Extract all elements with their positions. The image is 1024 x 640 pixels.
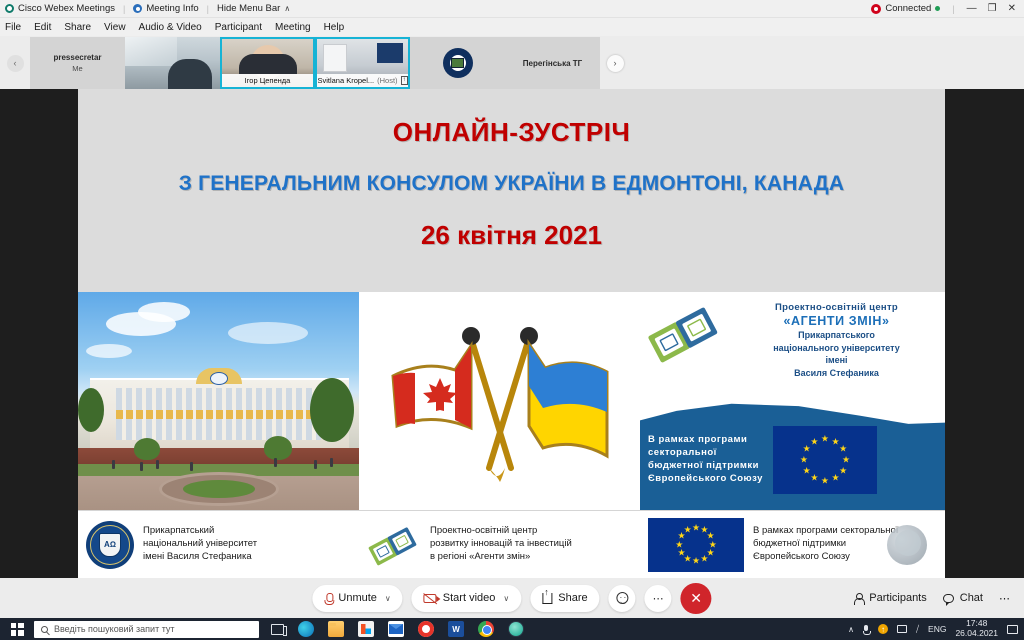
start-video-button[interactable]: Start video ∨: [412, 585, 521, 612]
unmute-button[interactable]: Unmute ∨: [312, 585, 402, 612]
windows-taskbar: Введіть пошуковий запит тут W ∧ ↑ ⧸ ENG …: [0, 618, 1024, 640]
chrome-icon[interactable]: [478, 621, 494, 637]
eu-star-icon: ★: [700, 554, 708, 563]
participants-label: Participants: [869, 592, 926, 604]
agents-of-changes-icon: [646, 300, 724, 366]
language-indicator[interactable]: ENG: [928, 624, 946, 634]
banner-university-line3: імені Василя Стефаника: [143, 551, 257, 564]
connection-status[interactable]: Connected: [871, 3, 940, 14]
slide-image-band: Проектно-освітній центр «АГЕНТИ ЗМІН» Пр…: [78, 292, 945, 510]
chevron-left-icon: ‹: [7, 55, 24, 72]
video-tile-ihor-tsependa[interactable]: Ігор Цепенда: [220, 37, 315, 89]
connection-quality-dot: [935, 6, 940, 11]
eu-flag-icon: ★★★★★★★★★★★★: [648, 518, 744, 572]
unmute-label: Unmute: [338, 592, 377, 604]
video-tile-sublabel: Me: [72, 64, 82, 73]
taskbar-search-input[interactable]: Введіть пошуковий запит тут: [34, 621, 259, 638]
volume-tray-icon[interactable]: ⧸: [916, 624, 919, 635]
banner-cell-agents: Проектно-освітній центр розвитку інновац…: [359, 511, 640, 578]
avatar: [443, 48, 473, 78]
menu-item-file[interactable]: File: [5, 22, 21, 33]
video-tile-name: Ігор Цепенда: [245, 76, 291, 85]
microphone-tray-icon[interactable]: [863, 625, 869, 634]
eu-support-block: В рамках програми секторальної бюджетної…: [648, 426, 937, 494]
participants-button[interactable]: Participants: [849, 585, 930, 612]
minimize-button[interactable]: —: [967, 3, 977, 14]
eu-star-icon: ★: [839, 445, 847, 454]
filmstrip-next[interactable]: ›: [600, 37, 630, 89]
menu-item-share[interactable]: Share: [64, 22, 91, 33]
menu-item-edit[interactable]: Edit: [34, 22, 51, 33]
notifications-icon[interactable]: [1007, 625, 1018, 634]
banner-agents-line2: розвитку інновацій та інвестицій: [430, 538, 572, 551]
filmstrip-prev[interactable]: ‹: [0, 37, 30, 89]
start-video-label: Start video: [443, 592, 496, 604]
edge-icon[interactable]: [298, 621, 314, 637]
menu-item-participant[interactable]: Participant: [215, 22, 262, 33]
banner-eu-line1: В рамках програми секторальної: [753, 525, 898, 538]
title-separator-3: |: [952, 4, 954, 14]
eu-star-icon: ★: [677, 548, 685, 557]
windows-logo-icon: [11, 623, 24, 636]
menu-item-help[interactable]: Help: [324, 22, 345, 33]
opera-icon[interactable]: [418, 621, 434, 637]
eu-star-icon: ★: [692, 523, 700, 532]
show-hidden-icons-icon[interactable]: ∧: [848, 625, 854, 634]
video-tile-svitlana-kropelnytska[interactable]: Svitlana Kropel... (Host) ↑: [315, 37, 410, 89]
video-tile-name: pressecretar: [53, 53, 101, 62]
app-title: Cisco Webex Meetings: [5, 3, 115, 14]
hide-menu-bar-button[interactable]: Hide Menu Bar ∧: [217, 3, 290, 14]
clock-date: 26.04.2021: [955, 628, 998, 638]
eu-star-icon: ★: [810, 474, 818, 483]
slide-title-line3: 26 квітня 2021: [78, 220, 945, 251]
banner-university-line1: Прикарпатський: [143, 525, 257, 538]
eu-star-icon: ★: [675, 540, 683, 549]
video-tile-name: Перегінська ТГ: [523, 59, 582, 68]
eu-star-icon: ★: [821, 434, 829, 443]
eu-star-icon: ★: [839, 466, 847, 475]
slide-title-line2: З ГЕНЕРАЛЬНИМ КОНСУЛОМ УКРАЇНИ В ЕДМОНТО…: [78, 172, 945, 196]
clock[interactable]: 17:48 26.04.2021: [955, 619, 998, 639]
chevron-up-icon: ∧: [284, 4, 290, 13]
chat-label: Chat: [960, 592, 983, 604]
agents-of-changes-block: Проектно-освітній центр «АГЕНТИ ЗМІН» Пр…: [646, 300, 941, 378]
slide-right-column: Проектно-освітній центр «АГЕНТИ ЗМІН» Пр…: [640, 292, 945, 510]
eu-star-icon: ★: [800, 456, 808, 465]
menu-item-meeting[interactable]: Meeting: [275, 22, 311, 33]
share-label: Share: [558, 592, 587, 604]
slide-footer-banner: AΩ Прикарпатський національний університ…: [78, 510, 945, 578]
hide-menu-bar-label: Hide Menu Bar: [217, 3, 280, 14]
presentation-slide[interactable]: ОНЛАЙН-ЗУСТРІЧ З ГЕНЕРАЛЬНИМ КОНСУЛОМ УК…: [78, 89, 945, 578]
update-tray-icon[interactable]: ↑: [878, 624, 888, 634]
banner-eu-line3: Європейського Союзу: [753, 551, 898, 564]
menu-bar: File Edit Share View Audio & Video Parti…: [0, 18, 1024, 37]
eu-support-line3: бюджетної підтримки: [648, 460, 763, 473]
webex-meeting-window: Cisco Webex Meetings | Meeting Info | Hi…: [0, 0, 1024, 640]
eu-support-line2: секторальної: [648, 447, 763, 460]
agents-of-changes-icon: [367, 522, 421, 568]
chevron-down-icon[interactable]: ∨: [385, 594, 391, 603]
system-tray: ∧ ↑ ⧸ ENG 17:48 26.04.2021: [848, 619, 1024, 639]
video-tile-avatar-participant[interactable]: [410, 37, 505, 89]
microsoft-store-icon[interactable]: [358, 621, 374, 637]
close-button[interactable]: ✕: [1008, 3, 1016, 14]
end-meeting-button[interactable]: ✕: [681, 583, 712, 614]
agents-line6: Василя Стефаника: [732, 368, 941, 379]
info-icon: [133, 4, 142, 13]
pin-icon[interactable]: ↑: [401, 76, 408, 85]
chevron-down-icon[interactable]: ∨: [503, 594, 509, 603]
agents-line4: національного університету: [732, 343, 941, 354]
mail-icon[interactable]: [388, 621, 404, 637]
webex-icon[interactable]: [508, 621, 524, 637]
slide-title-block: ОНЛАЙН-ЗУСТРІЧ З ГЕНЕРАЛЬНИМ КОНСУЛОМ УК…: [78, 89, 945, 251]
eu-star-icon: ★: [831, 474, 839, 483]
participants-icon: [853, 593, 863, 604]
eu-star-icon: ★: [684, 526, 692, 535]
webex-logo-icon: [5, 4, 14, 13]
reactions-button[interactable]: [609, 585, 636, 612]
share-screen-icon: [542, 593, 552, 604]
university-seal-icon: AΩ: [86, 521, 134, 569]
more-options-button[interactable]: ⋯: [645, 585, 672, 612]
camera-off-icon: [424, 594, 437, 603]
slide-title-line1: ОНЛАЙН-ЗУСТРІЧ: [78, 117, 945, 148]
shared-content-stage: ОНЛАЙН-ЗУСТРІЧ З ГЕНЕРАЛЬНИМ КОНСУЛОМ УК…: [0, 89, 1024, 578]
search-placeholder: Введіть пошуковий запит тут: [54, 624, 175, 634]
eu-star-icon: ★: [821, 477, 829, 486]
canada-ukraine-flags-pin: [359, 292, 640, 510]
title-bar: Cisco Webex Meetings | Meeting Info | Hi…: [0, 0, 1024, 18]
task-view-icon[interactable]: [271, 624, 284, 635]
title-separator-1: |: [123, 4, 125, 14]
file-explorer-icon[interactable]: [328, 621, 344, 637]
share-button[interactable]: Share: [530, 585, 599, 612]
meeting-control-bar: Unmute ∨ Start video ∨ Share ⋯ ✕: [0, 578, 1024, 618]
word-icon[interactable]: W: [448, 621, 464, 637]
host-badge: (Host): [377, 76, 397, 85]
chat-icon: [943, 594, 954, 603]
panel-more-button[interactable]: ⋯: [995, 585, 1014, 612]
search-icon: [41, 626, 48, 633]
video-tile-name: Svitlana Kropel...: [317, 76, 374, 85]
video-feed-thumbnail: [125, 37, 220, 89]
menu-item-audio-video[interactable]: Audio & Video: [139, 22, 202, 33]
banner-cell-eu: ★★★★★★★★★★★★ В рамках програми сектораль…: [640, 511, 945, 578]
banner-cell-university: AΩ Прикарпатський національний університ…: [78, 511, 359, 578]
menu-item-view[interactable]: View: [104, 22, 126, 33]
crossed-flags-icon: [385, 316, 615, 486]
video-thumbnail-strip: ‹ pressecretar Me Ігор Цепенда Svitlana …: [0, 37, 1024, 89]
banner-agents-line3: в регіоні «Агенти змін»: [430, 551, 572, 564]
eu-support-line1: В рамках програми: [648, 434, 763, 447]
video-tile-office[interactable]: [125, 37, 220, 89]
maximize-button[interactable]: ❐: [988, 3, 997, 14]
video-tile-pressecretar[interactable]: pressecretar Me: [30, 37, 125, 89]
start-button[interactable]: [0, 618, 34, 640]
eu-support-line4: Європейського Союзу: [648, 473, 763, 486]
more-options-icon: ⋯: [653, 592, 664, 605]
clock-time: 17:48: [966, 618, 987, 628]
title-separator-2: |: [207, 4, 209, 14]
banner-eu-line2: бюджетної підтримки: [753, 538, 898, 551]
eu-star-icon: ★: [810, 437, 818, 446]
connection-status-label: Connected: [885, 3, 931, 14]
eu-star-icon: ★: [842, 456, 850, 465]
eu-star-icon: ★: [692, 557, 700, 566]
agents-line2: «АГЕНТИ ЗМІН»: [732, 314, 941, 328]
eu-star-icon: ★: [803, 445, 811, 454]
chevron-right-icon: ›: [607, 55, 624, 72]
connection-status-icon: [871, 4, 881, 14]
close-icon: ✕: [690, 590, 702, 607]
microphone-muted-icon: [324, 593, 332, 604]
agents-line5: імені: [732, 355, 941, 366]
eu-star-icon: ★: [803, 466, 811, 475]
overlay-bubble-decoration: [887, 525, 927, 565]
university-building-photo: [78, 292, 359, 510]
banner-agents-line1: Проектно-освітній центр: [430, 525, 572, 538]
more-options-icon: ⋯: [999, 592, 1010, 605]
smiley-reaction-icon: [616, 592, 628, 604]
chat-button[interactable]: Chat: [939, 585, 987, 612]
agents-line3: Прикарпатського: [732, 330, 941, 341]
network-tray-icon[interactable]: [897, 625, 907, 633]
meeting-info-button[interactable]: Meeting Info: [133, 3, 198, 14]
app-title-label: Cisco Webex Meetings: [18, 3, 115, 14]
meeting-info-label: Meeting Info: [146, 3, 198, 14]
banner-university-line2: національний університет: [143, 538, 257, 551]
eu-flag-icon: ★★★★★★★★★★★★: [773, 426, 877, 494]
agents-line1: Проектно-освітній центр: [732, 302, 941, 313]
video-tile-perehinska-th[interactable]: Перегінська ТГ: [505, 37, 600, 89]
